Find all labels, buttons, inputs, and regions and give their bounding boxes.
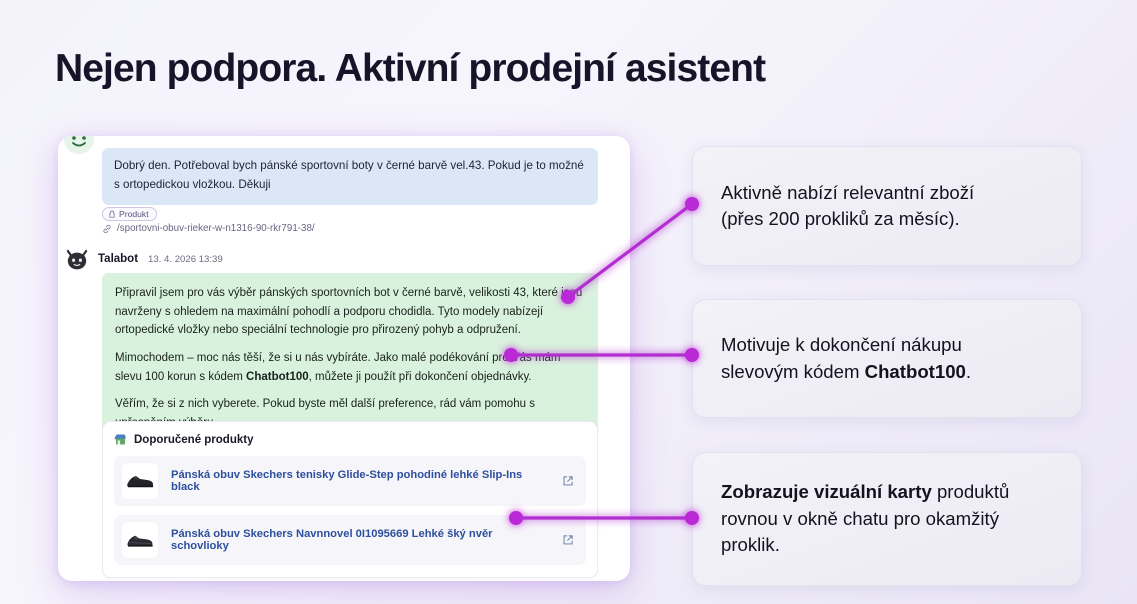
user-avatar-icon: [64, 136, 94, 154]
annotation-card-3: Zobrazuje vizuální karty produktů rovnou…: [692, 452, 1082, 586]
product-name[interactable]: Pánská obuv Skechers tenisky Glide-Step …: [171, 469, 549, 493]
chat-window: Dobrý den. Potřeboval bych pánské sporto…: [58, 136, 630, 581]
message-timestamp: 13. 4. 2026 13:39: [148, 254, 223, 265]
annotation-card-1: Aktivně nabízí relevantní zboží (přes 20…: [692, 146, 1082, 266]
user-message-bubble: Dobrý den. Potřeboval bych pánské sporto…: [102, 148, 598, 205]
recommended-products-panel: Doporučené produkty Pánská obuv Skechers…: [102, 421, 598, 578]
chat-scroll-area[interactable]: Dobrý den. Potřeboval bych pánské sporto…: [58, 136, 630, 581]
annotation-line: (přes 200 prokliků za měsíc).: [721, 208, 960, 229]
product-name[interactable]: Pánská obuv Skechers Navnnovel 0I1095669…: [171, 528, 549, 552]
annotation-line: rovnou v okně chatu pro okamžitý: [721, 508, 999, 529]
bot-message-header: Talabot 13. 4. 2026 13:39: [64, 246, 223, 272]
product-badge-row: Produkt: [102, 205, 157, 223]
product-list-item[interactable]: Pánská obuv Skechers Navnnovel 0I1095669…: [114, 515, 586, 565]
store-icon: [114, 433, 127, 446]
annotation-text-1: Aktivně nabízí relevantní zboží (přes 20…: [721, 180, 974, 233]
product-link-row[interactable]: /sportovni-obuv-rieker-w-n1316-90-rkr791…: [102, 223, 315, 234]
offer-text-after: , můžete ji použít při dokončení objedná…: [309, 371, 532, 383]
external-link-icon[interactable]: [562, 475, 574, 487]
annotation-text-2: Motivuje k dokončení nákupu slevovým kód…: [721, 332, 971, 385]
annotation-line: proklik.: [721, 534, 780, 555]
tag-icon: [108, 210, 116, 218]
annotation-line: Motivuje k dokončení nákupu: [721, 334, 962, 355]
bot-name: Talabot: [98, 253, 138, 265]
status-badge: Produkt: [102, 207, 157, 221]
product-list-item[interactable]: Pánská obuv Skechers tenisky Glide-Step …: [114, 456, 586, 506]
annotation-line-tail: produktů: [932, 481, 1010, 502]
bot-paragraph-1: Připravil jsem pro vás výběr pánských sp…: [115, 284, 585, 340]
robot-avatar-icon: [64, 246, 90, 272]
recommended-products-title: Doporučené produkty: [134, 434, 253, 446]
sneaker-icon: [122, 463, 158, 499]
external-link-icon[interactable]: [562, 534, 574, 546]
annotation-emphasis: Chatbot100: [865, 361, 966, 382]
recommended-products-title-row: Doporučené produkty: [114, 433, 586, 446]
annotation-emphasis: Zobrazuje vizuální karty: [721, 481, 932, 502]
bot-paragraph-offer: Mimochodem – moc nás těší, že si u nás v…: [115, 349, 585, 386]
sneaker-icon: [122, 522, 158, 558]
annotation-line: Aktivně nabízí relevantní zboží: [721, 182, 974, 203]
bot-message-bubble: Připravil jsem pro vás výběr pánských sp…: [102, 273, 598, 444]
product-link-text[interactable]: /sportovni-obuv-rieker-w-n1316-90-rkr791…: [117, 223, 315, 234]
annotation-card-2: Motivuje k dokončení nákupu slevovým kód…: [692, 299, 1082, 418]
page-title: Nejen podpora. Aktivní prodejní asistent: [55, 47, 765, 91]
link-icon: [102, 224, 112, 234]
badge-label: Produkt: [119, 209, 149, 219]
annotation-text-3: Zobrazuje vizuální karty produktů rovnou…: [721, 479, 1009, 558]
annotation-line: slevovým kódem: [721, 361, 865, 382]
annotation-line-tail: .: [966, 361, 971, 382]
discount-code: Chatbot100: [246, 371, 309, 383]
